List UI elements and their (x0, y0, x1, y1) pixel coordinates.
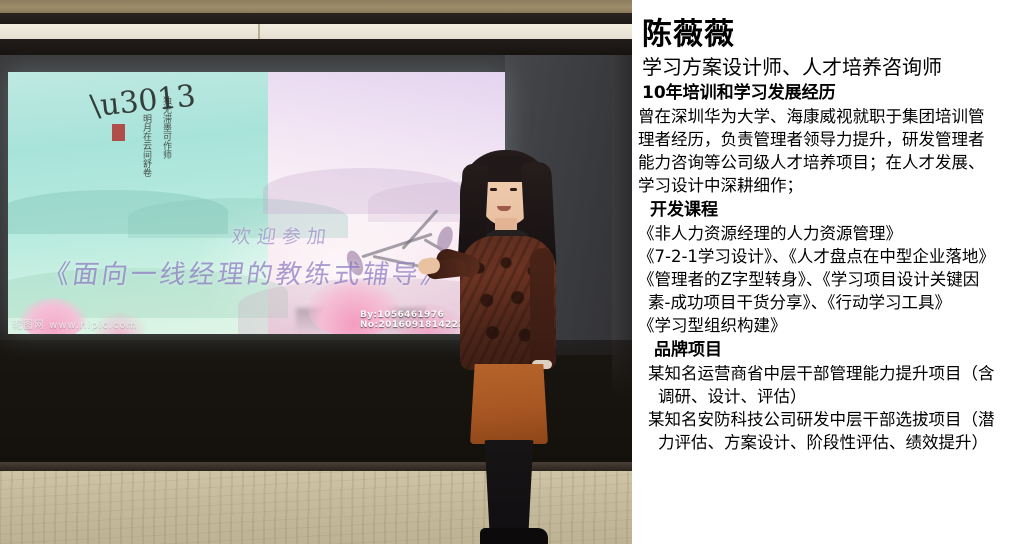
project-line: 某知名安防科技公司研发中层干部选拔项目（潜 (632, 408, 1024, 431)
profile-card: \u3013 独无滞墨可作师 明月在云间舒卷 欢迎参加 《面向一线经理的教练式辅… (0, 0, 1024, 544)
calligraphy-artwork: \u3013 独无滞墨可作师 明月在云间舒卷 (82, 80, 192, 185)
section-heading-experience: 10年培训和学习发展经历 (632, 81, 1024, 105)
calligraphy-column-2: 明月在云间舒卷 (140, 114, 151, 190)
project-line: 某知名运营商省中层干部管理能力提升项目（含 (632, 362, 1024, 385)
wall-upper-band (0, 0, 632, 13)
right-arm (530, 248, 554, 366)
course-line: 《7-2-1学习设计》、《人才盘点在中型企业落地》 (632, 245, 1024, 268)
course-line: 《学习型组织构建》 (632, 314, 1024, 337)
person-subtitle: 学习方案设计师、人才培养咨询师 (632, 54, 1024, 80)
section-heading-courses: 开发课程 (632, 198, 1024, 222)
wall-panel-seam (258, 24, 260, 39)
experience-line: 学习设计中深耕细作； (632, 174, 1024, 197)
course-line: 《非人力资源经理的人力资源管理》 (632, 222, 1024, 245)
projection-screen: \u3013 独无滞墨可作师 明月在云间舒卷 欢迎参加 《面向一线经理的教练式辅… (8, 72, 505, 334)
presenter-photo: \u3013 独无滞墨可作师 明月在云间舒卷 欢迎参加 《面向一线经理的教练式辅… (0, 0, 632, 544)
person-name: 陈薇薇 (632, 18, 1024, 52)
wall-cream-band (0, 24, 632, 39)
eye-right (510, 188, 517, 191)
boot-right (506, 528, 548, 544)
project-line: 力评估、方案设计、阶段性评估、绩效提升） (632, 431, 1024, 454)
project-line: 调研、设计、评估） (632, 385, 1024, 408)
experience-line: 曾在深圳华为大学、海康威视就职于集团培训管 (632, 105, 1024, 128)
section-courses: 开发课程 《非人力资源经理的人力资源管理》 《7-2-1学习设计》、《人才盘点在… (632, 198, 1024, 337)
section-experience: 10年培训和学习发展经历 曾在深圳华为大学、海康威视就职于集团培训管 理者经历，… (632, 81, 1024, 197)
orange-skirt (470, 364, 548, 444)
profile-info-panel: 陈薇薇 学习方案设计师、人才培养咨询师 10年培训和学习发展经历 曾在深圳华为大… (632, 0, 1024, 544)
calligraphy-column-1: 独无滞墨可作师 (160, 96, 171, 176)
slide-title-text: 《面向一线经理的教练式辅导》 (41, 254, 452, 291)
wall-dark-band-lower (0, 39, 632, 55)
experience-line: 能力咨询等公司级人才培养项目；在人才发展、 (632, 151, 1024, 174)
wall-dark-band-top (0, 13, 632, 24)
presenter-figure (432, 148, 582, 544)
course-line: 素-成功项目干货分享》、《行动学习工具》 (632, 291, 1024, 314)
experience-line: 理者经历，负责管理者领导力提升，研发管理者 (632, 128, 1024, 151)
slide-welcome-text: 欢迎参加 (230, 222, 333, 249)
slide-watermark-left: 昵图网 www.nipic.com (12, 316, 137, 331)
eye-left (490, 188, 497, 191)
section-brand-projects: 品牌项目 某知名运营商省中层干部管理能力提升项目（含 调研、设计、评估） 某知名… (632, 338, 1024, 454)
course-line: 《管理者的Z字型转身》、《学习项目设计关键因 (632, 268, 1024, 291)
section-heading-brand-projects: 品牌项目 (632, 338, 1024, 362)
red-seal-stamp (112, 124, 125, 141)
